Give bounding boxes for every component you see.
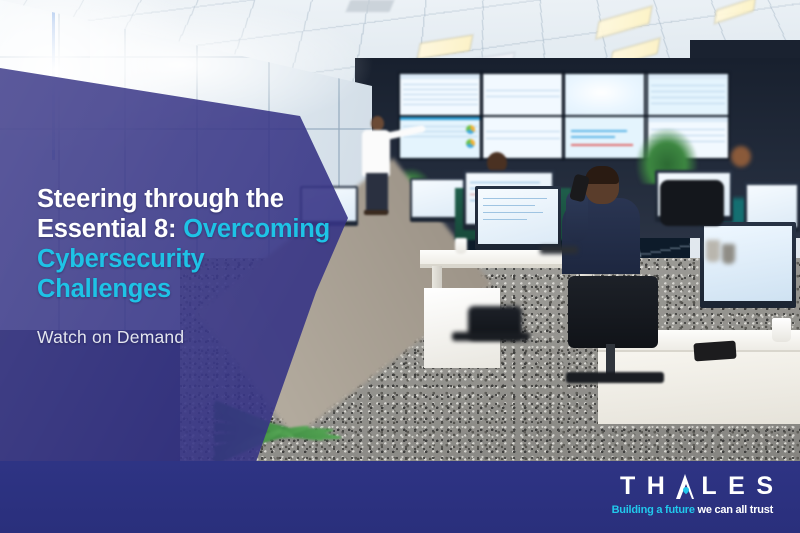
banner-canvas: Steering through the Essential 8: Overco…: [0, 0, 800, 533]
page-title: Steering through the Essential 8: Overco…: [37, 184, 367, 304]
desk-organiser: [722, 244, 735, 264]
wordmark-letter-t: T: [620, 474, 642, 499]
wordmark-letter-e: E: [728, 474, 751, 499]
video-wall-divider: [480, 72, 482, 160]
wordmark-letter-l: L: [701, 474, 723, 499]
office-chair-headrest: [660, 180, 724, 226]
video-wall-screen: [400, 74, 481, 115]
chair-base: [566, 372, 664, 383]
video-wall-screen: [483, 74, 564, 115]
thales-logo: T H L E S Building a future we can all t…: [612, 474, 773, 516]
headline-line-2: Essential 8: Overcoming: [37, 214, 367, 244]
presenter-shoes: [364, 210, 388, 215]
presenter-legs: [366, 173, 388, 213]
tagline-cyan-part: Building a future: [612, 504, 695, 516]
headline-line-2-white: Essential 8:: [37, 215, 183, 243]
chair-base: [452, 332, 530, 341]
wordmark-letter-s: S: [756, 474, 773, 499]
headline-line-1-white: Steering through the: [37, 185, 284, 213]
analyst-hair: [585, 166, 619, 184]
thales-wordmark: T H L E S: [612, 474, 773, 499]
headline-line-3-cyan: Cybersecurity: [37, 245, 204, 273]
pie-chart-icon: [466, 125, 475, 134]
office-chair-back: [568, 276, 658, 348]
watch-on-demand-cta[interactable]: Watch on Demand: [37, 326, 367, 348]
tagline-white-part: we can all trust: [698, 504, 773, 516]
video-wall-screen: [565, 117, 646, 158]
keyboard-icon: [540, 246, 578, 254]
thales-tagline: Building a future we can all trust: [612, 504, 773, 516]
tablet-device: [693, 341, 736, 362]
headline-line-1: Steering through the: [37, 184, 367, 214]
hero-copy-block: Steering through the Essential 8: Overco…: [37, 184, 367, 348]
desk-panel: [598, 352, 800, 424]
wordmark-letter-h: H: [647, 474, 672, 499]
headline-line-3: Cybersecurity: [37, 244, 367, 274]
monitor: [475, 186, 561, 250]
monitor: [700, 222, 796, 308]
headline-line-4-cyan: Challenges: [37, 275, 171, 303]
video-wall-screen: [648, 74, 729, 115]
wordmark-letter-a-with-droplet-icon: [676, 474, 695, 499]
coffee-cup-icon: [455, 238, 467, 254]
seated-analyst-head: [731, 146, 751, 167]
coffee-cup-icon: [772, 318, 791, 342]
pie-chart-icon: [466, 139, 475, 148]
video-wall-screen: [565, 74, 646, 115]
presenter-torso: [362, 130, 390, 176]
video-wall-divider: [562, 72, 564, 160]
video-wall-screen: [400, 117, 481, 158]
headline-line-2-cyan: Overcoming: [183, 215, 330, 243]
headline-line-4: Challenges: [37, 274, 367, 304]
desk-organiser: [706, 240, 720, 262]
presenter-head: [371, 116, 384, 131]
